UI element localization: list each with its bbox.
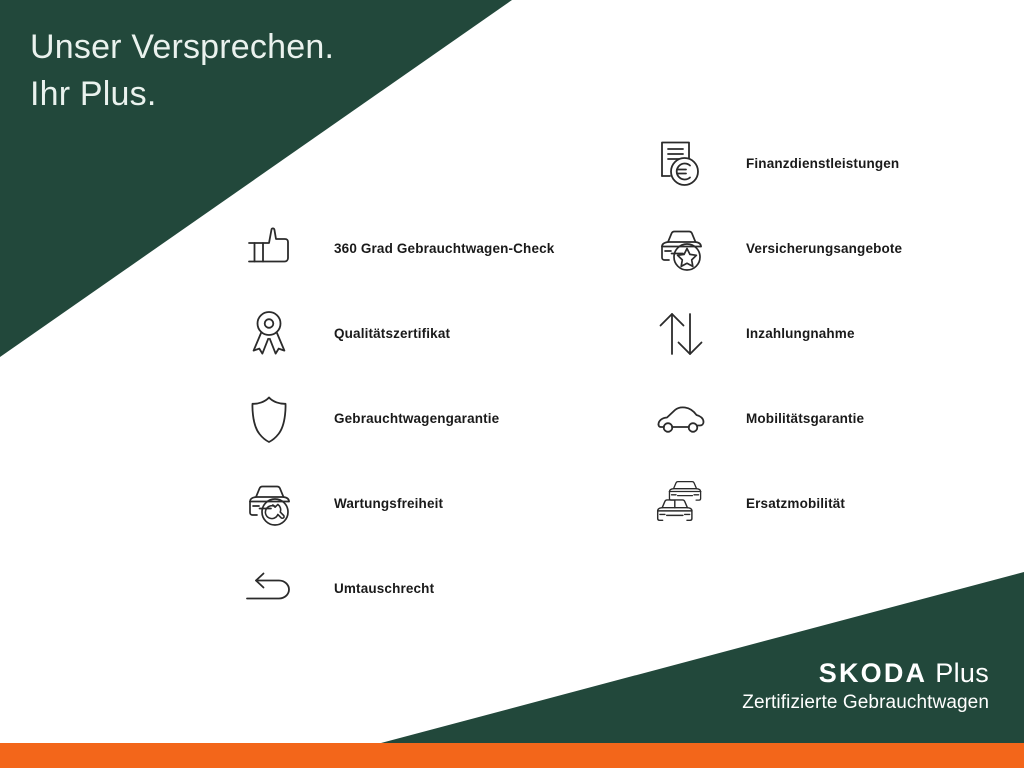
list-item-label: Umtauschrecht xyxy=(334,581,434,596)
list-item: Mobilitätsgarantie xyxy=(650,376,1024,461)
list-item: Qualitätszertifikat xyxy=(238,291,638,376)
list-item-label: Gebrauchtwagengarantie xyxy=(334,411,499,426)
brand-name-row: SKODA Plus xyxy=(742,658,989,688)
list-item: Inzahlungnahme xyxy=(650,291,1024,376)
brand-lockup: SKODA Plus Zertifizierte Gebrauchtwagen xyxy=(742,658,989,716)
skoda-wordmark: SKODA xyxy=(819,658,928,688)
list-item: Gebrauchtwagengarantie xyxy=(238,376,638,461)
list-item-label: Mobilitätsgarantie xyxy=(746,411,864,426)
list-item: Finanzdienstleistungen xyxy=(650,121,1024,206)
list-item: Versicherungsangebote xyxy=(650,206,1024,291)
promo-page: Unser Versprechen. Ihr Plus. 360 Grad Ge… xyxy=(0,0,1024,768)
list-item: Wartungsfreiheit xyxy=(238,461,638,546)
list-item: Ersatzmobilität xyxy=(650,461,1024,546)
list-item-label: Wartungsfreiheit xyxy=(334,496,443,511)
list-item: Umtauschrecht xyxy=(238,546,638,631)
list-item-label: Qualitätszertifikat xyxy=(334,326,450,341)
car-side-icon xyxy=(650,388,712,450)
u-turn-arrow-icon xyxy=(238,558,300,620)
list-item-label: Finanzdienstleistungen xyxy=(746,156,899,171)
document-euro-icon xyxy=(650,133,712,195)
list-item-label: Inzahlungnahme xyxy=(746,326,855,341)
page-title: Unser Versprechen. Ihr Plus. xyxy=(30,24,334,118)
car-star-icon xyxy=(650,218,712,280)
two-cars-icon xyxy=(650,473,712,535)
shield-icon xyxy=(238,388,300,450)
feature-list-left: 360 Grad Gebrauchtwagen-Check Qualitätsz… xyxy=(238,206,638,631)
car-wrench-icon xyxy=(238,473,300,535)
thumbs-up-icon xyxy=(238,218,300,280)
award-rosette-icon xyxy=(238,303,300,365)
orange-accent-bar xyxy=(0,743,1024,768)
up-down-arrows-icon xyxy=(650,303,712,365)
list-item: 360 Grad Gebrauchtwagen-Check xyxy=(238,206,638,291)
list-item-label: Versicherungsangebote xyxy=(746,241,902,256)
list-item-label: 360 Grad Gebrauchtwagen-Check xyxy=(334,241,554,256)
feature-list-right: Finanzdienstleistungen Versicherungsange… xyxy=(650,121,1024,546)
list-item-label: Ersatzmobilität xyxy=(746,496,845,511)
brand-tagline: Zertifizierte Gebrauchtwagen xyxy=(742,690,989,716)
plus-wordmark: Plus xyxy=(935,658,989,688)
